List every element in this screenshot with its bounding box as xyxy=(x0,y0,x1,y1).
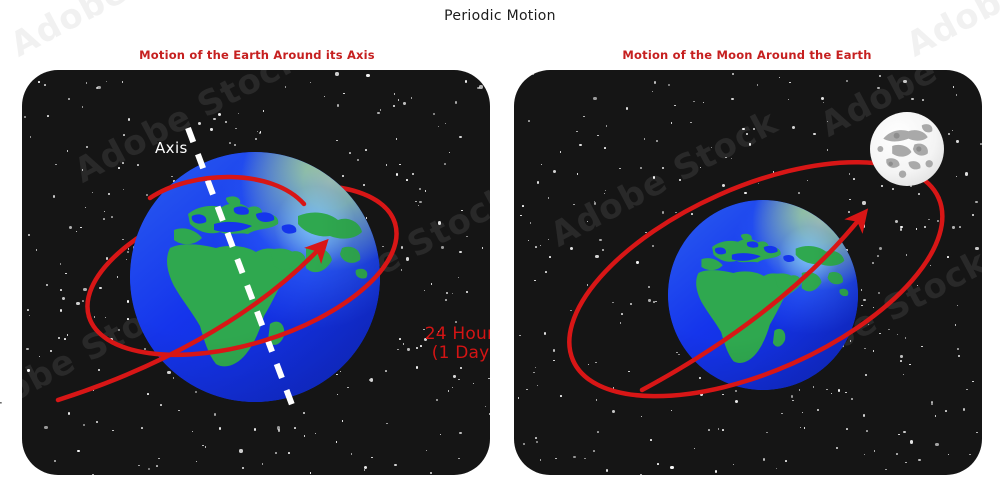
star xyxy=(596,399,598,401)
star xyxy=(956,94,958,96)
panel-moon-revolution: Adobe Stock Adobe Stock Adobe Stock xyxy=(514,70,982,475)
star xyxy=(548,197,550,199)
star xyxy=(757,84,759,86)
star xyxy=(522,205,524,207)
star xyxy=(657,379,659,381)
star xyxy=(523,443,525,445)
star xyxy=(733,464,735,466)
star xyxy=(892,188,894,190)
star xyxy=(612,410,615,413)
star xyxy=(792,126,795,129)
star xyxy=(827,149,829,151)
star xyxy=(630,303,632,305)
star xyxy=(879,247,882,250)
star xyxy=(674,105,676,107)
star xyxy=(708,429,710,431)
star xyxy=(903,431,905,433)
star xyxy=(918,459,920,461)
star xyxy=(621,313,623,315)
star xyxy=(648,286,650,288)
star xyxy=(798,192,800,194)
star xyxy=(620,322,622,324)
star xyxy=(650,439,652,441)
panel-earth-rotation: Adobe Stock Adobe Stock Adobe Stock xyxy=(22,70,490,475)
rotation-axis-line xyxy=(22,70,490,475)
star xyxy=(900,355,902,357)
star xyxy=(975,201,977,203)
star xyxy=(758,183,760,185)
panel-caption-earth-rotation: Motion of the Earth Around its Axis xyxy=(22,48,492,62)
star xyxy=(703,102,705,104)
star xyxy=(532,73,534,75)
star xyxy=(980,143,982,145)
star xyxy=(807,180,809,182)
star xyxy=(640,474,642,475)
star xyxy=(553,349,555,351)
star xyxy=(553,360,555,362)
star xyxy=(905,337,907,339)
star xyxy=(668,84,670,86)
star xyxy=(518,397,520,399)
star xyxy=(834,161,836,163)
star xyxy=(626,107,628,109)
star xyxy=(896,453,898,455)
star xyxy=(931,404,933,406)
star xyxy=(599,239,601,241)
star xyxy=(928,219,930,221)
star xyxy=(918,193,920,195)
star xyxy=(641,416,643,418)
star xyxy=(553,170,556,173)
star xyxy=(628,371,630,373)
star xyxy=(958,355,960,357)
star xyxy=(570,310,572,312)
star xyxy=(671,122,673,124)
star xyxy=(838,161,840,163)
star xyxy=(831,393,833,395)
star xyxy=(963,408,965,410)
star xyxy=(976,432,978,434)
star xyxy=(791,395,793,397)
star xyxy=(606,469,608,471)
star xyxy=(653,301,655,303)
annotation-24-hours: 24 Hours (1 Day) xyxy=(414,325,490,364)
axis-label: Axis xyxy=(155,139,188,157)
star xyxy=(544,332,546,334)
star xyxy=(956,176,958,178)
star xyxy=(535,246,537,248)
star xyxy=(619,168,621,170)
star xyxy=(602,249,604,251)
star xyxy=(922,99,924,101)
star xyxy=(604,147,606,149)
star xyxy=(945,410,947,412)
star xyxy=(535,367,537,369)
star xyxy=(744,192,746,194)
star xyxy=(865,374,867,376)
star xyxy=(862,201,865,204)
star xyxy=(776,468,778,470)
star xyxy=(644,138,646,140)
star xyxy=(957,348,959,350)
star xyxy=(613,387,615,389)
star xyxy=(773,171,775,173)
star xyxy=(537,385,539,387)
star xyxy=(662,211,664,213)
star xyxy=(722,394,724,396)
star xyxy=(872,262,874,264)
star xyxy=(528,240,530,242)
star xyxy=(735,390,737,392)
star xyxy=(652,91,654,93)
star xyxy=(874,450,876,452)
star xyxy=(648,299,650,301)
star xyxy=(656,140,658,142)
star xyxy=(690,122,692,124)
star xyxy=(645,232,647,234)
star xyxy=(864,348,866,350)
star xyxy=(520,215,522,217)
star xyxy=(895,220,898,223)
star xyxy=(823,102,825,104)
star xyxy=(959,226,961,228)
star xyxy=(597,135,599,137)
star xyxy=(817,409,819,411)
star xyxy=(845,392,847,394)
star xyxy=(731,98,733,100)
star xyxy=(957,305,959,307)
star xyxy=(549,256,551,258)
star xyxy=(560,395,562,397)
star xyxy=(763,458,765,460)
star xyxy=(903,374,905,376)
star xyxy=(519,335,521,337)
star xyxy=(722,184,725,187)
star xyxy=(965,172,968,175)
moon-globe xyxy=(870,112,944,186)
star xyxy=(715,470,717,472)
star xyxy=(732,73,734,75)
star xyxy=(595,255,598,258)
star xyxy=(866,430,868,432)
star xyxy=(536,441,538,443)
star xyxy=(881,185,883,187)
star xyxy=(654,81,656,83)
star xyxy=(885,469,887,471)
page-title: Periodic Motion xyxy=(0,8,1000,24)
star xyxy=(849,173,851,175)
star xyxy=(953,86,955,88)
star xyxy=(906,254,908,256)
star xyxy=(861,289,863,291)
illustration-root: Periodic Motion Motion of the Earth Arou… xyxy=(0,0,1000,491)
star xyxy=(584,458,586,460)
star xyxy=(781,413,783,415)
star xyxy=(909,364,911,366)
star xyxy=(583,116,585,118)
star xyxy=(534,280,536,282)
star xyxy=(937,220,939,222)
stock-watermark-label: Adobe Stock | #500634998 xyxy=(0,320,2,485)
star xyxy=(540,459,542,461)
star xyxy=(652,245,654,247)
star xyxy=(905,462,907,464)
star xyxy=(560,151,562,153)
star xyxy=(877,255,879,257)
star xyxy=(935,443,938,446)
star xyxy=(836,447,838,449)
star xyxy=(573,456,575,458)
star xyxy=(718,428,720,430)
star xyxy=(860,215,862,217)
star xyxy=(873,350,875,352)
star xyxy=(956,140,958,142)
star xyxy=(583,299,585,301)
star xyxy=(779,77,781,79)
star xyxy=(813,133,815,135)
star xyxy=(972,214,974,216)
star xyxy=(846,428,848,430)
star xyxy=(952,130,954,132)
star xyxy=(528,120,530,122)
star xyxy=(694,448,696,450)
star xyxy=(792,400,794,402)
star xyxy=(579,144,581,146)
star xyxy=(955,324,957,326)
star xyxy=(576,131,578,133)
star xyxy=(966,389,968,391)
star xyxy=(804,427,806,429)
star xyxy=(969,454,971,456)
star xyxy=(593,97,596,100)
star xyxy=(851,398,853,400)
star xyxy=(924,226,926,228)
star xyxy=(846,80,848,82)
star xyxy=(693,101,695,103)
star xyxy=(606,125,608,127)
star xyxy=(862,224,865,227)
star xyxy=(864,454,866,456)
star xyxy=(597,431,599,433)
star xyxy=(541,164,543,166)
star xyxy=(533,372,535,374)
star xyxy=(853,178,855,180)
star xyxy=(948,133,950,135)
star xyxy=(530,222,532,224)
star xyxy=(821,97,824,100)
star xyxy=(898,434,900,436)
star xyxy=(587,284,589,286)
star xyxy=(612,302,614,304)
star xyxy=(671,410,673,412)
star xyxy=(788,99,790,101)
star xyxy=(921,346,923,348)
star xyxy=(700,393,702,395)
star xyxy=(540,245,542,247)
star xyxy=(537,181,539,183)
star xyxy=(722,429,724,431)
star xyxy=(789,82,791,84)
star xyxy=(900,360,902,362)
star xyxy=(802,412,804,414)
star xyxy=(636,261,638,263)
star xyxy=(972,381,974,383)
star xyxy=(595,362,597,364)
star xyxy=(670,466,673,469)
star xyxy=(588,364,590,366)
star xyxy=(897,334,899,336)
star xyxy=(526,389,528,391)
star xyxy=(766,432,768,434)
star xyxy=(655,301,657,303)
star xyxy=(910,440,913,443)
star xyxy=(785,460,787,462)
star xyxy=(657,463,659,465)
star xyxy=(935,415,937,417)
star xyxy=(800,427,802,429)
star xyxy=(735,400,738,403)
star xyxy=(952,226,954,228)
star xyxy=(863,414,865,416)
star xyxy=(545,271,547,273)
star xyxy=(948,454,950,456)
star xyxy=(593,450,595,452)
star xyxy=(535,437,537,439)
star xyxy=(555,458,557,460)
star xyxy=(900,228,902,230)
earth-globe xyxy=(668,200,858,390)
star xyxy=(577,173,579,175)
star xyxy=(548,239,550,241)
star xyxy=(916,228,918,230)
earth-terminator-shading xyxy=(668,200,858,390)
